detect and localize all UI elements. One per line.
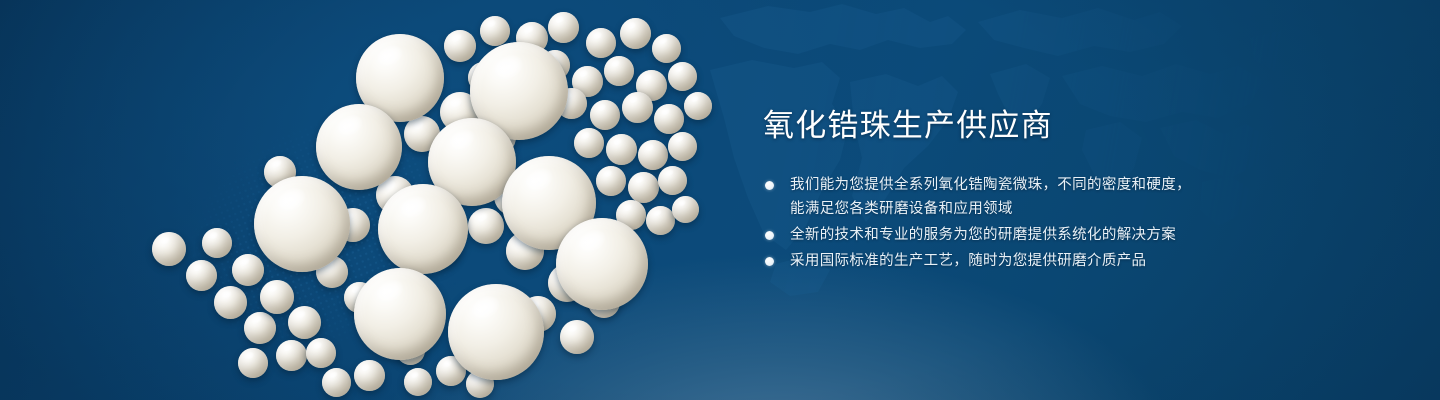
bullet-line: 我们能为您提供全系列氧化锆陶瓷微珠，不同的密度和硬度， <box>790 173 1233 197</box>
bullet-line: 能满足您各类研磨设备和应用领域 <box>790 197 1233 221</box>
bullet-line: 全新的技术和专业的服务为您的研磨提供系统化的解决方案 <box>790 223 1233 247</box>
bullet-dot-icon <box>765 231 774 240</box>
list-item: 我们能为您提供全系列氧化锆陶瓷微珠，不同的密度和硬度， 能满足您各类研磨设备和应… <box>763 173 1233 221</box>
page-title: 氧化锆珠生产供应商 <box>763 108 1233 144</box>
hero-banner: 氧化锆珠生产供应商 我们能为您提供全系列氧化锆陶瓷微珠，不同的密度和硬度， 能满… <box>0 0 1440 400</box>
list-item: 采用国际标准的生产工艺，随时为您提供研磨介质产品 <box>763 249 1233 273</box>
bullet-dot-icon <box>765 257 774 266</box>
feature-bullet-list: 我们能为您提供全系列氧化锆陶瓷微珠，不同的密度和硬度， 能满足您各类研磨设备和应… <box>763 173 1233 273</box>
list-item: 全新的技术和专业的服务为您的研磨提供系统化的解决方案 <box>763 223 1233 247</box>
bullet-line: 采用国际标准的生产工艺，随时为您提供研磨介质产品 <box>790 249 1233 273</box>
banner-copy: 氧化锆珠生产供应商 我们能为您提供全系列氧化锆陶瓷微珠，不同的密度和硬度， 能满… <box>763 108 1233 275</box>
bullet-dot-icon <box>765 181 774 190</box>
